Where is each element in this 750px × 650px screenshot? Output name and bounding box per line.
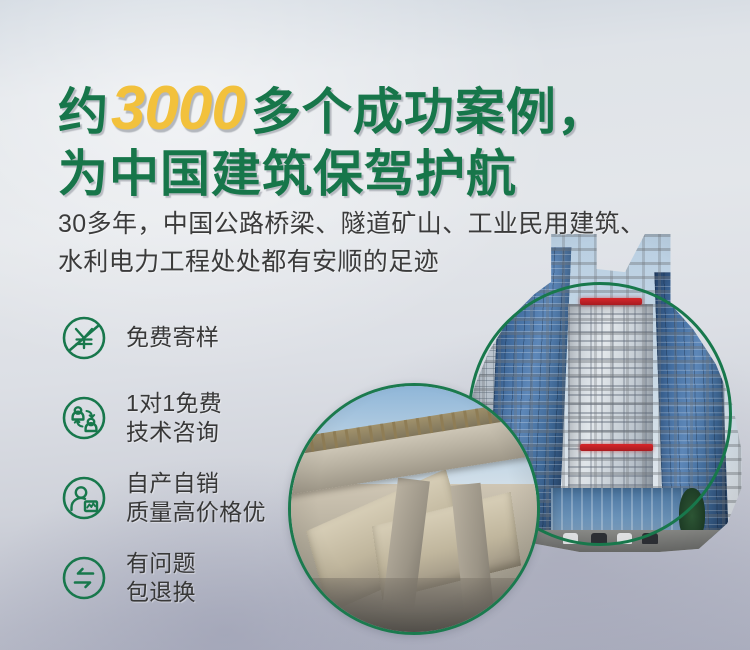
ground-rubble xyxy=(291,578,537,632)
subcopy-line-2: 水利电力工程处处都有安顺的足迹 xyxy=(58,243,718,281)
return-exchange-arrows-icon xyxy=(58,552,110,604)
no-fee-yuan-icon xyxy=(58,312,110,364)
feature-label-line-2: 技术咨询 xyxy=(126,418,222,447)
parked-car xyxy=(642,533,658,544)
feature-list: 免费寄样 1对1免费 技术咨询 xyxy=(58,298,318,618)
feature-item-free-sample[interactable]: 免费寄样 xyxy=(58,298,318,378)
feature-label: 有问题 包退换 xyxy=(126,549,196,608)
feature-label-line-1: 免费寄样 xyxy=(126,324,219,350)
feature-label-line-1: 1对1免费 xyxy=(126,390,222,416)
feature-label-line-2: 包退换 xyxy=(126,578,196,607)
subcopy-line-1: 30多年，中国公路桥梁、隧道矿山、工业民用建筑、 xyxy=(58,205,718,243)
feature-label: 免费寄样 xyxy=(126,323,219,352)
parked-car xyxy=(617,533,633,544)
headline-number: 3000 xyxy=(109,74,251,143)
headline-prefix: 约 xyxy=(58,84,109,140)
headline: 约3000多个成功案例， 为中国建筑保驾护航 xyxy=(58,78,608,199)
feature-label: 自产自销 质量高价格优 xyxy=(126,469,266,528)
feature-label-line-2: 质量高价格优 xyxy=(126,498,266,527)
feature-item-one-on-one-consult[interactable]: 1对1免费 技术咨询 xyxy=(58,378,318,458)
feature-label-line-1: 有问题 xyxy=(126,550,196,576)
parked-car xyxy=(591,533,607,544)
parked-car xyxy=(563,533,579,544)
headline-suffix: 多个成功案例， xyxy=(251,84,608,140)
headline-line-2: 为中国建筑保驾护航 xyxy=(58,149,608,199)
facade-sign xyxy=(580,444,654,451)
rooftop-sign xyxy=(580,298,642,306)
two-people-exchange-icon xyxy=(58,392,110,444)
person-chart-icon xyxy=(58,472,110,524)
bridge-scene xyxy=(291,386,537,632)
headline-line-1: 约3000多个成功案例， xyxy=(58,78,608,140)
feature-item-self-production[interactable]: 自产自销 质量高价格优 xyxy=(58,458,318,538)
feature-item-return-exchange[interactable]: 有问题 包退换 xyxy=(58,538,318,618)
promo-banner: 约3000多个成功案例， 为中国建筑保驾护航 30多年，中国公路桥梁、隧道矿山、… xyxy=(0,0,750,650)
subcopy: 30多年，中国公路桥梁、隧道矿山、工业民用建筑、 水利电力工程处处都有安顺的足迹 xyxy=(58,205,718,281)
bridge-photo xyxy=(288,383,540,635)
feature-label-line-1: 自产自销 xyxy=(126,470,219,496)
feature-label: 1对1免费 技术咨询 xyxy=(126,389,222,448)
